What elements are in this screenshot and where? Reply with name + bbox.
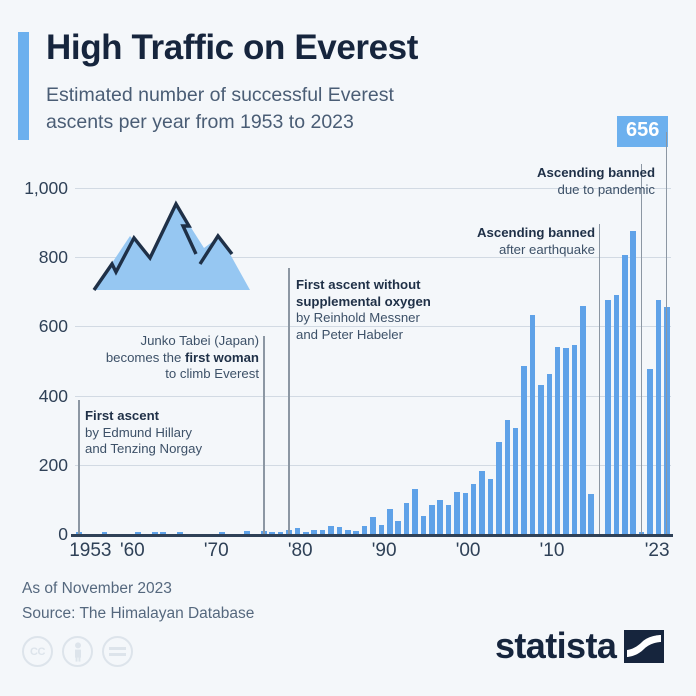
bar[interactable]: [454, 492, 460, 534]
y-axis-tick-label: 800: [0, 247, 68, 268]
annotation-line: First ascent: [85, 408, 202, 425]
x-axis-tick-label: '60: [120, 540, 145, 562]
bar[interactable]: [530, 315, 536, 534]
annotation-first-ascent: First ascentby Edmund Hillaryand Tenzing…: [85, 408, 202, 458]
annotation-line: Ascending banned: [477, 225, 595, 242]
source-text: Source: The Himalayan Database: [22, 605, 254, 623]
annotation-line: First ascent without: [296, 277, 431, 294]
annotation-line: supplemental oxygen: [296, 294, 431, 311]
bar[interactable]: [547, 374, 553, 534]
value-badge-656: 656: [617, 116, 668, 147]
creative-commons-badges: CC: [22, 636, 142, 667]
bar[interactable]: [446, 505, 452, 534]
bar[interactable]: [555, 347, 561, 534]
annotation-line: by Edmund Hillary: [85, 425, 202, 442]
bar[interactable]: [488, 479, 494, 534]
x-axis-tick-label: '90: [372, 540, 397, 562]
page-title: High Traffic on Everest: [46, 26, 418, 70]
annotation-marker-line: [263, 336, 264, 534]
mountain-illustration: [88, 192, 256, 297]
bar[interactable]: [647, 369, 653, 534]
y-axis-tick-label: 200: [0, 455, 68, 476]
bar[interactable]: [580, 306, 586, 534]
bar[interactable]: [479, 471, 485, 534]
bar[interactable]: [362, 526, 368, 534]
bar[interactable]: [421, 516, 427, 534]
bar[interactable]: [463, 493, 469, 534]
bar[interactable]: [622, 255, 628, 534]
annotation-line: and Peter Habeler: [296, 327, 431, 344]
annotation-marker-line: [641, 164, 642, 534]
annotation-no-supplemental-oxygen: First ascent withoutsupplemental oxygenb…: [296, 277, 431, 343]
statista-logo[interactable]: statista: [495, 628, 664, 664]
page-subtitle: Estimated number of successful Everest a…: [46, 82, 394, 136]
annotation-line: becomes the first woman: [106, 350, 259, 367]
bar[interactable]: [328, 526, 334, 534]
bar[interactable]: [505, 420, 511, 534]
bar[interactable]: [656, 300, 662, 534]
bar[interactable]: [471, 484, 477, 534]
y-axis-tick-label: 1,000: [0, 178, 68, 199]
bar[interactable]: [387, 509, 393, 534]
infographic-root: High Traffic on Everest Estimated number…: [0, 0, 696, 696]
x-axis-tick-label: '00: [456, 540, 481, 562]
cc-icon[interactable]: CC: [22, 636, 53, 667]
y-axis-tick-label: 0: [0, 524, 68, 545]
annotation-junko-tabei: Junko Tabei (Japan)becomes the first wom…: [106, 333, 259, 383]
bar[interactable]: [429, 505, 435, 534]
cc-by-icon-glyph: [64, 638, 91, 665]
accent-bar: [18, 32, 29, 140]
x-axis-tick-label: '80: [288, 540, 313, 562]
bar[interactable]: [605, 300, 611, 534]
annotation-pandemic-ban: Ascending banneddue to pandemic: [537, 165, 655, 198]
bar[interactable]: [538, 385, 544, 534]
cc-by-icon[interactable]: [62, 636, 93, 667]
bar[interactable]: [588, 494, 594, 534]
bar[interactable]: [521, 366, 527, 535]
annotation-marker-line: [666, 132, 667, 534]
annotation-line: by Reinhold Messner: [296, 310, 431, 327]
bar[interactable]: [513, 428, 519, 534]
bar[interactable]: [630, 231, 636, 534]
x-axis-baseline: [71, 534, 673, 537]
bar[interactable]: [412, 489, 418, 534]
cc-nd-icon-glyph: [104, 638, 131, 665]
cc-icon-glyph: CC: [24, 638, 51, 665]
x-axis-tick-label: '23: [645, 540, 670, 562]
annotation-line: Ascending banned: [537, 165, 655, 182]
annotation-line: to climb Everest: [106, 366, 259, 383]
bar[interactable]: [370, 517, 376, 534]
cc-nd-icon[interactable]: [102, 636, 133, 667]
annotation-marker-line: [78, 400, 79, 534]
y-axis-tick-label: 400: [0, 386, 68, 407]
as-of-text: As of November 2023: [22, 580, 172, 598]
bar[interactable]: [563, 348, 569, 534]
annotation-line: due to pandemic: [537, 182, 655, 199]
annotation-line: and Tenzing Norgay: [85, 441, 202, 458]
bar[interactable]: [496, 442, 502, 534]
statista-wordmark: statista: [495, 628, 616, 664]
annotation-earthquake-ban: Ascending bannedafter earthquake: [477, 225, 595, 258]
bar[interactable]: [437, 500, 443, 534]
x-axis-tick-label: 1953: [69, 540, 111, 562]
bar[interactable]: [395, 521, 401, 534]
subtitle-line-2: ascents per year from 1953 to 2023: [46, 109, 394, 136]
statista-mark-icon: [624, 630, 664, 663]
bar[interactable]: [572, 345, 578, 534]
bar[interactable]: [614, 295, 620, 534]
bar[interactable]: [404, 503, 410, 534]
x-axis-tick-label: '70: [204, 540, 229, 562]
annotation-line: Junko Tabei (Japan): [106, 333, 259, 350]
bar[interactable]: [379, 525, 385, 534]
subtitle-line-1: Estimated number of successful Everest: [46, 82, 394, 109]
y-axis-tick-label: 600: [0, 316, 68, 337]
header: High Traffic on Everest Estimated number…: [0, 26, 696, 146]
annotation-line: after earthquake: [477, 242, 595, 259]
x-axis-tick-label: '10: [540, 540, 565, 562]
annotation-marker-line: [599, 224, 600, 534]
annotation-marker-line: [288, 268, 289, 534]
